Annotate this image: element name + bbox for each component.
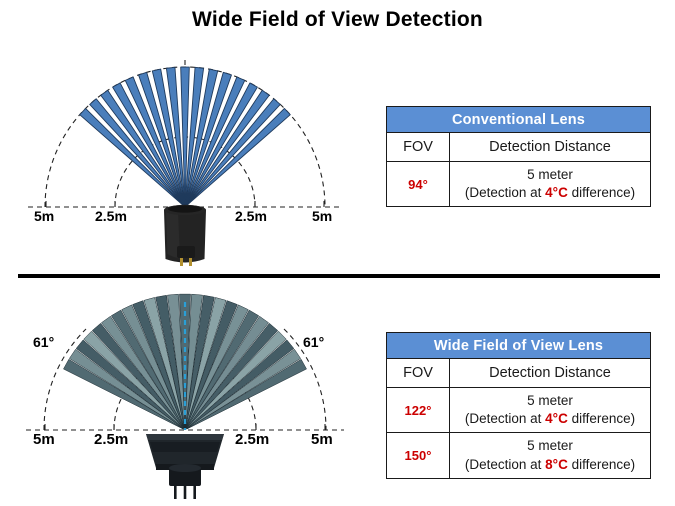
fov-value: 150° (387, 433, 450, 478)
sensor-pin-3 (193, 485, 196, 499)
table-row: 94° 5 meter (Detection at 4°C difference… (387, 162, 651, 207)
fov-value: 94° (387, 162, 450, 207)
wide-fan-svg (0, 282, 370, 504)
detection-suffix: difference) (568, 411, 635, 426)
distance-label-5m-left: 5m (33, 431, 55, 448)
detection-prefix: (Detection at (465, 411, 545, 426)
column-header-fov: FOV (387, 359, 450, 388)
section-divider (18, 274, 660, 278)
temperature-value: 8°C (545, 457, 568, 472)
table-column-header-row: FOV Detection Distance (387, 133, 651, 162)
cylindrical-pir-sensor (164, 205, 206, 266)
angle-label-61-left: 61° (33, 334, 54, 350)
distance-label-2p5m-right: 2.5m (235, 431, 269, 448)
angle-label-61-right: 61° (303, 334, 324, 350)
distance-label-5m-left: 5m (34, 208, 54, 224)
conventional-lens-diagram: 5m 2.5m 2.5m 5m (0, 40, 370, 270)
temperature-value: 4°C (545, 411, 568, 426)
distance-label-2p5m-right: 2.5m (235, 208, 267, 224)
detection-distance-cell: 5 meter (Detection at 8°C difference) (450, 433, 651, 478)
detection-prefix: (Detection at (465, 457, 545, 472)
page-title: Wide Field of View Detection (0, 8, 675, 32)
sensor-pin-2 (184, 485, 187, 499)
distance-line-1: 5 meter (527, 167, 573, 182)
table-title-wide: Wide Field of View Lens (387, 333, 651, 359)
distance-line-1: 5 meter (527, 438, 573, 453)
distance-label-2p5m-left: 2.5m (94, 431, 128, 448)
wide-lens-pir-sensor (146, 434, 224, 499)
wide-field-of-view-lens-table: Wide Field of View Lens FOV Detection Di… (386, 332, 651, 479)
temperature-value: 4°C (545, 185, 568, 200)
table-row: 122° 5 meter (Detection at 4°C differenc… (387, 388, 651, 433)
conventional-lens-table: Conventional Lens FOV Detection Distance… (386, 106, 651, 207)
detection-distance-cell: 5 meter (Detection at 4°C difference) (450, 162, 651, 207)
sensor-pin-1 (174, 485, 177, 499)
table-row: 150° 5 meter (Detection at 8°C differenc… (387, 433, 651, 478)
distance-label-5m-right: 5m (312, 208, 332, 224)
table-column-header-row: FOV Detection Distance (387, 359, 651, 388)
detection-distance-cell: 5 meter (Detection at 4°C difference) (450, 388, 651, 433)
column-header-detection-distance: Detection Distance (450, 133, 651, 162)
table-header-row: Conventional Lens (387, 107, 651, 133)
fov-value: 122° (387, 388, 450, 433)
detection-suffix: difference) (568, 457, 635, 472)
column-header-detection-distance: Detection Distance (450, 359, 651, 388)
detection-prefix: (Detection at (465, 185, 545, 200)
table-title-conventional: Conventional Lens (387, 107, 651, 133)
distance-line-1: 5 meter (527, 393, 573, 408)
detection-suffix: difference) (568, 185, 635, 200)
conventional-fan-svg (0, 40, 370, 270)
wide-lens-diagram: 61° 61° 5m 2.5m 2.5m 5m (0, 282, 370, 504)
column-header-fov: FOV (387, 133, 450, 162)
table-header-row: Wide Field of View Lens (387, 333, 651, 359)
distance-label-2p5m-left: 2.5m (95, 208, 127, 224)
distance-label-5m-right: 5m (311, 431, 333, 448)
